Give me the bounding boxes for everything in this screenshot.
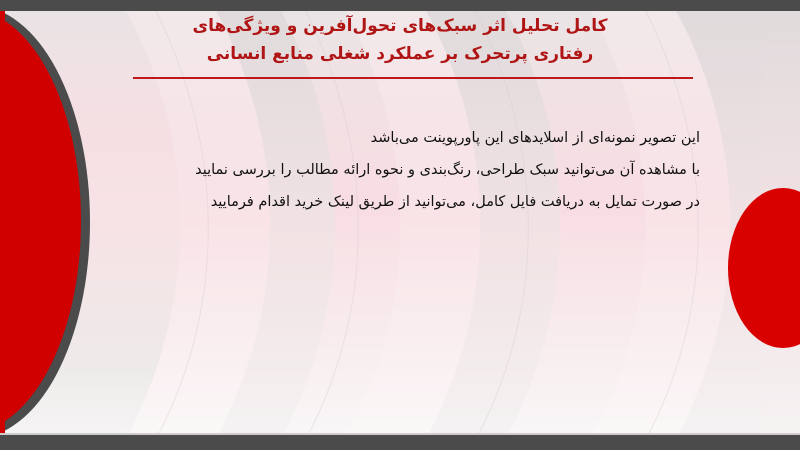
body-line-3: در صورت تمایل به دریافت فایل کامل، می‌تو… bbox=[100, 186, 700, 218]
slide-title-line-1: کامل تحلیل اثر سبک‌های تحول‌آفرین و ویژگ… bbox=[0, 12, 800, 40]
slide-body-text: این تصویر نمونه‌ای از اسلایدهای این پاور… bbox=[100, 122, 700, 218]
body-line-1: این تصویر نمونه‌ای از اسلایدهای این پاور… bbox=[100, 122, 700, 154]
slide-title-line-2: رفتاری پرتحرک بر عملکرد شغلی منابع انسان… bbox=[0, 40, 800, 68]
presentation-slide: کامل تحلیل اثر سبک‌های تحول‌آفرین و ویژگ… bbox=[0, 0, 800, 450]
bottom-dark-bar bbox=[0, 435, 800, 450]
body-line-2: با مشاهده آن می‌توانید سبک طراحی، رنگ‌بن… bbox=[100, 154, 700, 186]
slide-title: کامل تحلیل اثر سبک‌های تحول‌آفرین و ویژگ… bbox=[0, 12, 800, 68]
title-underline-rule bbox=[133, 77, 693, 79]
top-dark-bar bbox=[0, 0, 800, 11]
